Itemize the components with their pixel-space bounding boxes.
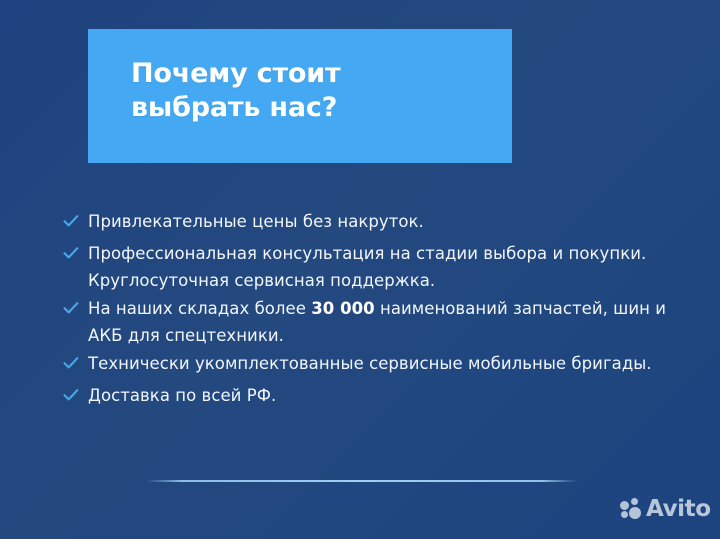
promo-slide: Почему стоит выбрать нас? Привлекательны… [0,0,720,539]
check-icon [62,354,84,381]
list-item-label: Привлекательные цены без накруток. [84,209,680,236]
list-item-label: На наших складах более 30 000 наименован… [84,296,680,349]
check-icon [62,244,84,271]
page-title: Почему стоит выбрать нас? [131,57,496,125]
list-item-label: Доставка по всей РФ. [84,383,680,410]
list-item: Привлекательные цены без накруток. [62,209,680,239]
list-item: Профессиональная консультация на стадии … [62,241,680,294]
avito-watermark: Avito [620,498,711,521]
avito-dots-logo-icon [620,498,643,521]
list-item: Технически укомплектованные сервисные мо… [62,351,680,381]
divider [148,480,576,482]
avito-wordmark: Avito [646,498,711,521]
title-banner: Почему стоит выбрать нас? [88,29,512,163]
list-item-text-part: На наших складах более [88,299,311,318]
list-item-label: Технически укомплектованные сервисные мо… [84,351,680,378]
highlight-count: 30 000 [311,299,374,318]
list-item: Доставка по всей РФ. [62,383,680,413]
list-item-label: Профессиональная консультация на стадии … [84,241,680,294]
check-icon [62,212,84,239]
check-icon [62,299,84,326]
benefits-list: Привлекательные цены без накруток. Профе… [62,209,680,415]
list-item: На наших складах более 30 000 наименован… [62,296,680,349]
check-icon [62,386,84,413]
